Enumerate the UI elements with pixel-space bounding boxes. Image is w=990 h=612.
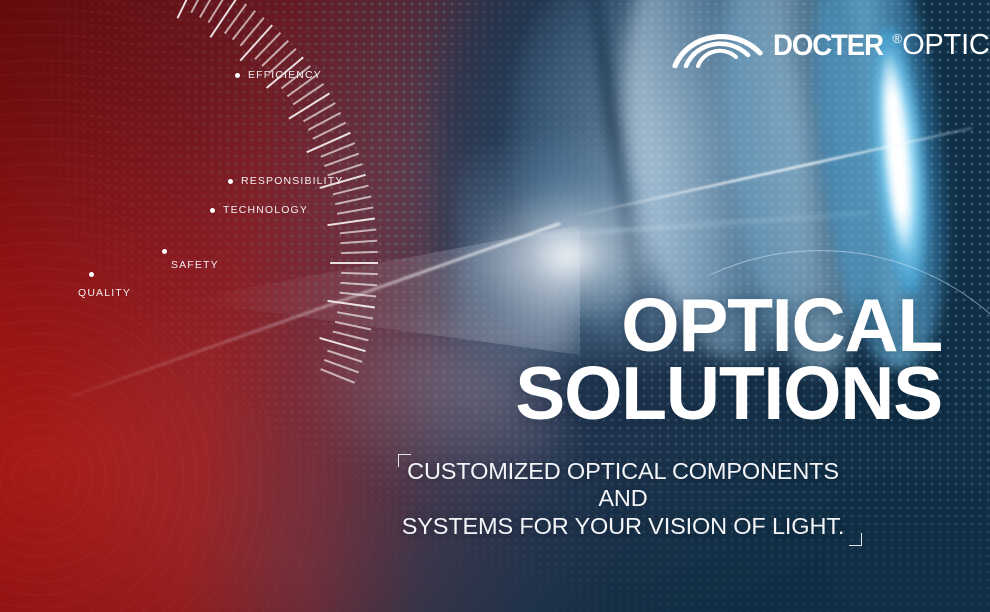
bracket-top-left-icon (398, 454, 411, 467)
gauge-label-dot (210, 208, 215, 213)
tagline-line-1: CUSTOMIZED OPTICAL COMPONENTS AND (407, 458, 839, 511)
gauge-label-dot (162, 249, 167, 254)
hero-banner: EFFICIENCYRESPONSIBILITYTECHNOLOGYSAFETY… (0, 0, 990, 612)
tagline: CUSTOMIZED OPTICAL COMPONENTS AND SYSTEM… (398, 458, 848, 540)
page-title: OPTICAL SOLUTIONS (0, 292, 942, 427)
logo-name-bold: DOCTER (773, 31, 883, 61)
logo-name-light: OPTICS (902, 31, 990, 60)
gauge-label-efficiency: EFFICIENCY (248, 69, 322, 81)
gauge-label-dot (89, 272, 94, 277)
gauge-label-dot (235, 73, 240, 78)
gauge-label-responsibility: RESPONSIBILITY (241, 175, 343, 187)
gauge-label-technology: TECHNOLOGY (223, 204, 308, 216)
tagline-line-2: SYSTEMS FOR YOUR VISION OF LIGHT. (398, 513, 848, 540)
bracket-bottom-right-icon (849, 533, 862, 546)
brand-logo[interactable]: DOCTER ® OPTICS (672, 22, 972, 70)
registered-mark-icon: ® (892, 32, 902, 45)
radial-tick-gauge (0, 0, 378, 582)
gauge-label-dot (228, 179, 233, 184)
gauge-label-safety: SAFETY (171, 259, 219, 271)
arc-bridge-icon (672, 24, 764, 68)
logo-wordmark: DOCTER ® OPTICS (773, 31, 990, 61)
headline-line-2: SOLUTIONS (0, 360, 942, 428)
